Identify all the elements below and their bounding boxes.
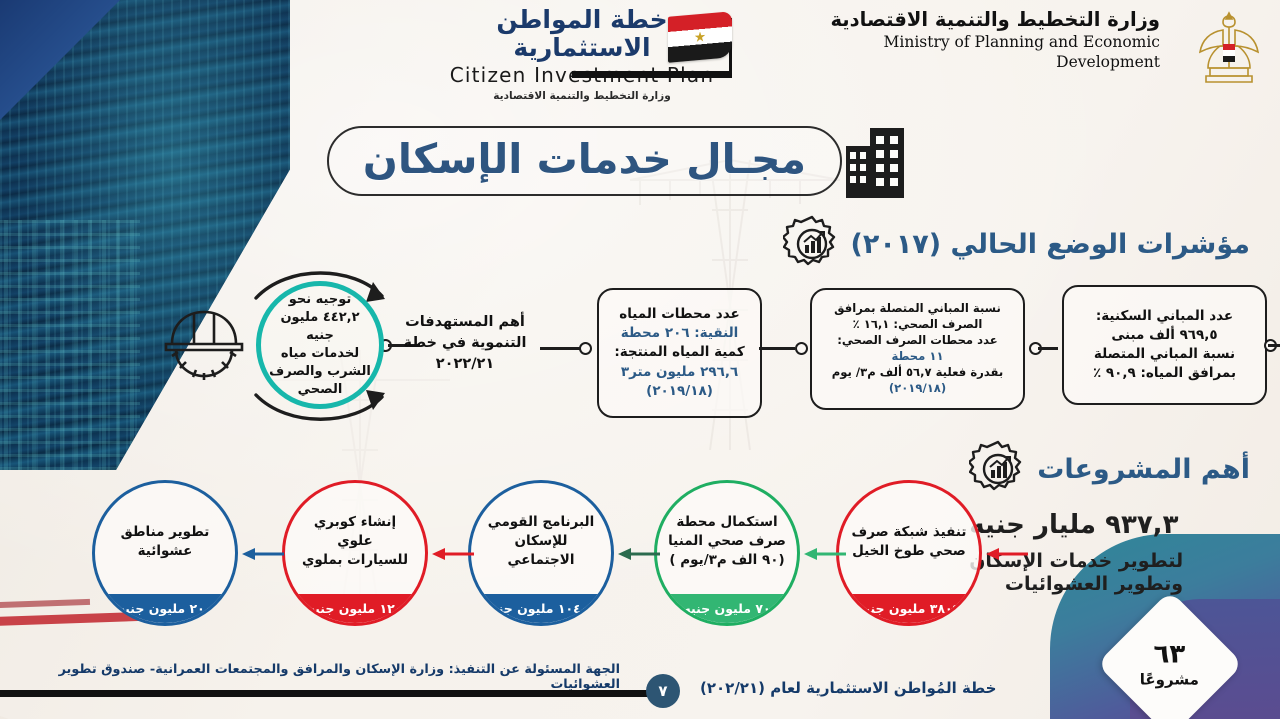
flow-arrow-icon — [804, 546, 846, 562]
project-title-line: صرف صحي المنيا — [668, 532, 786, 551]
indicator-line: نسبة المباني المتصلة بمرافق — [832, 301, 1003, 317]
badge-number: ٦٣ — [1140, 640, 1199, 670]
indicator-line: ٩٦٩,٥ ألف مبنى — [1093, 326, 1236, 345]
flow-arrow-icon — [432, 546, 474, 562]
flow-arrow-icon — [242, 546, 284, 562]
indicator-line: عدد محطات المياه — [614, 305, 744, 324]
footer-plan-title: خطة المُواطن الاستثمارية لعام (٢٠٢/٢١) — [700, 679, 996, 697]
page-title-pill: مجـال خدمات الإسكان — [327, 126, 842, 196]
project-circle-mallawi-flyover[interactable]: إنشاء كوبري علوي للسيارات بملوي ١٢٠ مليو… — [282, 480, 428, 626]
target-line: ٤٤٢,٢ مليون جنيه — [261, 309, 379, 345]
water-target-circle: توجيه نحو ٤٤٢,٢ مليون جنيه لخدمات مياه ا… — [256, 281, 384, 409]
indicator-line: (٢٠١٩/١٨) — [832, 381, 1003, 397]
target-line: الشرب والصرف — [261, 363, 379, 381]
ministry-logo: وزارة التخطيط والتنمية الاقتصادية Minist… — [820, 8, 1160, 72]
indicator-box-sanitation: نسبة المباني المتصلة بمرافق الصرف الصحي:… — [810, 288, 1025, 410]
footer-responsible-entity: الجهة المسئولة عن التنفيذ: وزارة الإسكان… — [20, 662, 620, 692]
section-header-current-indicators: مؤشرات الوضع الحالي (٢٠١٧) — [783, 215, 1250, 273]
targets-line-3: ٢٠٢٢/٢١ — [395, 354, 535, 375]
ministry-name-arabic: وزارة التخطيط والتنمية الاقتصادية — [820, 8, 1160, 32]
indicator-line: النقية: ٢٠٦ محطة — [614, 324, 744, 343]
indicator-line: بمرافق المياه: ٩٠,٩ ٪ — [1093, 364, 1236, 383]
project-circle-minya-sanitation-plant[interactable]: استكمال محطة صرف صحي المنيا (٩٠ الف م٣/ي… — [654, 480, 800, 626]
indicator-line: بقدرة فعلية ٥٦,٧ ألف م٣/ يوم — [832, 365, 1003, 381]
gear-chart-icon — [783, 215, 841, 273]
egypt-flag-icon — [668, 11, 732, 63]
page-title: مجـال خدمات الإسكان — [363, 135, 806, 183]
project-title-line: للسيارات بملوي — [294, 551, 416, 570]
safety-helmet-gear-icon — [160, 300, 248, 380]
flow-arrow-icon — [618, 546, 660, 562]
ministry-name-english: Ministry of Planning and Economic Develo… — [820, 33, 1160, 72]
section-title-projects: أهم المشروعات — [1037, 454, 1250, 485]
project-title-line: تنفيذ شبكة صرف — [852, 523, 967, 542]
cip-logo-underline — [572, 71, 732, 78]
target-line: الصحي — [261, 381, 379, 399]
indicator-box-residential-buildings: عدد المباني السكنية: ٩٦٩,٥ ألف مبنى نسبة… — [1062, 285, 1267, 405]
targets-line-2: التنموية في خطة — [395, 333, 535, 354]
indicator-line: عدد المباني السكنية: — [1093, 307, 1236, 326]
connector-line — [1038, 347, 1058, 350]
project-circle-toukh-elkheil-network[interactable]: تنفيذ شبكة صرف صحي طوخ الخيل ٣٨٠٩ مليون … — [836, 480, 982, 626]
connector-line — [1268, 344, 1280, 347]
infographic-page: خطة المواطن الاستثمارية Citizen Investme… — [0, 0, 1280, 719]
badge-label: مشروعًا — [1140, 671, 1199, 689]
project-title-line: للإسكان الاجتماعي — [480, 532, 602, 570]
project-title-line: (٩٠ الف م٣/يوم ) — [668, 551, 786, 570]
project-title-line: إنشاء كوبري علوي — [294, 513, 416, 551]
indicator-line: ٢٩٦,٦ مليون متر٣ — [614, 363, 744, 382]
project-title-line: عشوائية — [121, 542, 210, 561]
cip-logo-subtitle: وزارة التخطيط والتنمية الاقتصادية — [432, 90, 732, 102]
section-title-current: مؤشرات الوضع الحالي (٢٠١٧) — [851, 229, 1250, 260]
target-line: لخدمات مياه — [261, 345, 379, 363]
indicator-line: كمية المياه المنتجة: — [614, 343, 744, 362]
connector-node — [579, 342, 592, 355]
connector-node — [795, 342, 808, 355]
project-title-line: صحي طوخ الخيل — [852, 542, 967, 561]
section-header-projects: أهم المشروعات ٩٣٧,٣ مليار جنيه لتطوير خد… — [969, 440, 1250, 596]
page-title-group: مجـال خدمات الإسكان — [327, 124, 880, 198]
building-icon — [842, 124, 908, 198]
flow-arrow-icon — [986, 546, 1028, 562]
page-number-badge: ٧ — [646, 674, 680, 708]
projects-total-amount: ٩٣٧,٣ مليار جنيه — [969, 510, 1178, 540]
gear-chart-icon — [969, 440, 1027, 498]
project-circle-slum-development[interactable]: تطوير مناطق عشوائية ٢٠٠ مليون جنيه — [92, 480, 238, 626]
indicator-line: نسبة المباني المتصلة — [1093, 345, 1236, 364]
indicator-line: عدد محطات الصرف الصحي: — [832, 333, 1003, 349]
connector-line — [540, 347, 580, 350]
indicator-line: (٢٠١٩/١٨) — [614, 382, 744, 401]
project-circle-national-social-housing[interactable]: البرنامج القومي للإسكان الاجتماعي ١٠٤٠٣ … — [468, 480, 614, 626]
development-targets-label: أهم المستهدفات التنموية في خطة ٢٠٢٢/٢١ — [395, 312, 535, 375]
egypt-eagle-emblem-icon — [1196, 10, 1262, 88]
project-title-line: استكمال محطة — [668, 513, 786, 532]
targets-line-1: أهم المستهدفات — [395, 312, 535, 333]
indicator-box-water-plants: عدد محطات المياه النقية: ٢٠٦ محطة كمية ا… — [597, 288, 762, 418]
indicator-line: الصرف الصحي: ١٦,١ ٪ — [832, 317, 1003, 333]
connector-line — [759, 347, 795, 350]
project-title-line: تطوير مناطق — [121, 523, 210, 542]
target-line: توجيه نحو — [261, 291, 379, 309]
project-title-line: البرنامج القومي — [480, 513, 602, 532]
indicator-line: ١١ محطة — [832, 349, 1003, 365]
footer-rule — [0, 690, 660, 697]
projects-desc-line-2: وتطوير العشوائيات — [969, 573, 1183, 596]
